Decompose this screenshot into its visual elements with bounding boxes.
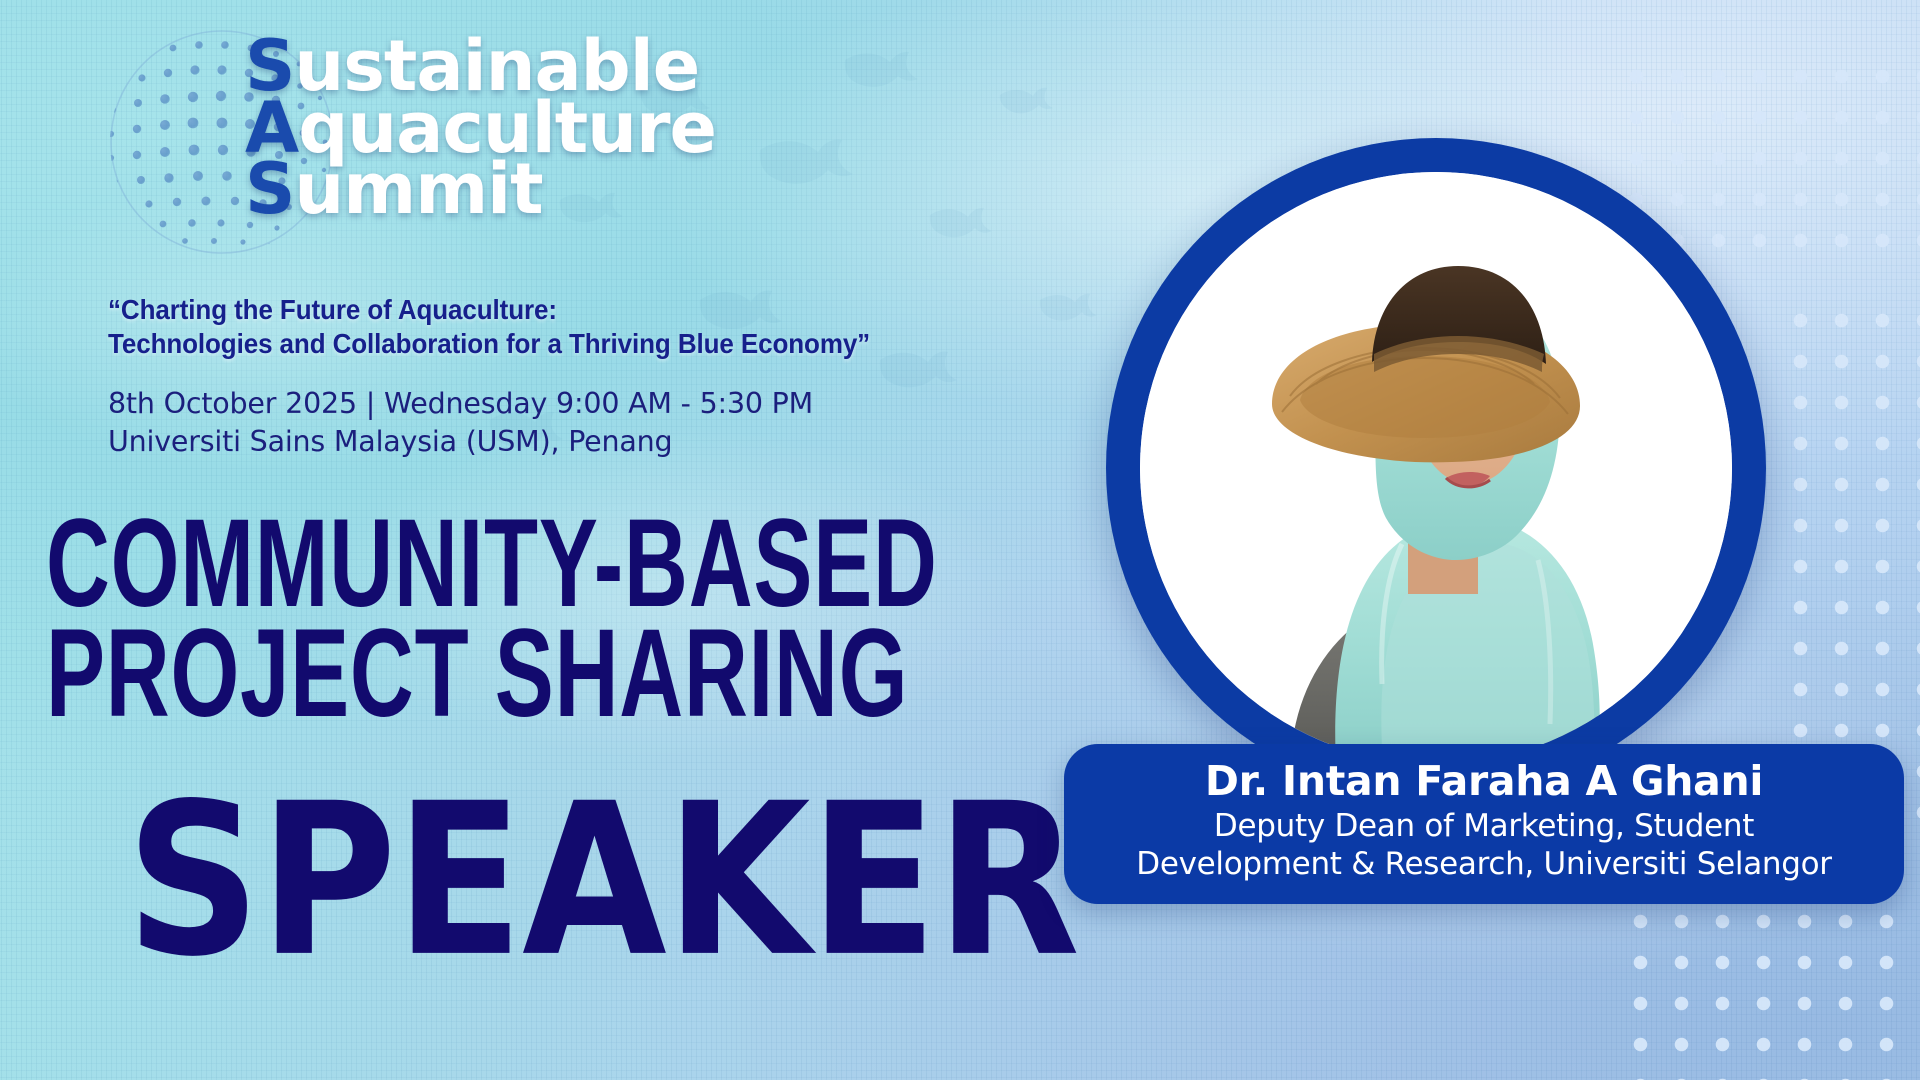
event-date-line: 8th October 2025 | Wednesday 9:00 AM - 5…	[108, 385, 813, 423]
speaker-portrait-illustration	[1140, 172, 1732, 764]
dot-grid-right-middle	[1780, 300, 1920, 820]
speaker-role-line-1: Deputy Dean of Marketing, Student	[1090, 808, 1878, 846]
speaker-name-card: Dr. Intan Faraha A Ghani Deputy Dean of …	[1064, 744, 1904, 904]
headline-speaker-word: SPEAKER	[126, 790, 1079, 971]
tagline-line-2: Technologies and Collaboration for a Thr…	[108, 327, 1015, 361]
event-datetime-venue: 8th October 2025 | Wednesday 9:00 AM - 5…	[108, 385, 813, 461]
speaker-role-line-2: Development & Research, Universiti Selan…	[1090, 846, 1878, 884]
logo-initial-s2: S	[245, 148, 294, 230]
speaker-announcement-poster: Sustainable Aquaculture Summit “Charting…	[0, 0, 1920, 1080]
event-tagline: “Charting the Future of Aquaculture: Tec…	[108, 293, 1068, 361]
speaker-portrait	[1140, 172, 1732, 764]
event-logo-title: Sustainable Aquaculture Summit	[245, 36, 716, 221]
poster-headline: COMMUNITY-BASED PROJECT SHARING	[46, 505, 1175, 719]
tagline-line-1: “Charting the Future of Aquaculture:	[108, 293, 1015, 327]
speaker-name: Dr. Intan Faraha A Ghani	[1090, 759, 1878, 803]
speaker-portrait-ring	[1106, 138, 1766, 798]
headline-line-2: PROJECT SHARING	[46, 615, 938, 732]
logo-word-summit: ummit	[294, 148, 542, 230]
event-venue-line: Universiti Sains Malaysia (USM), Penang	[108, 423, 813, 461]
